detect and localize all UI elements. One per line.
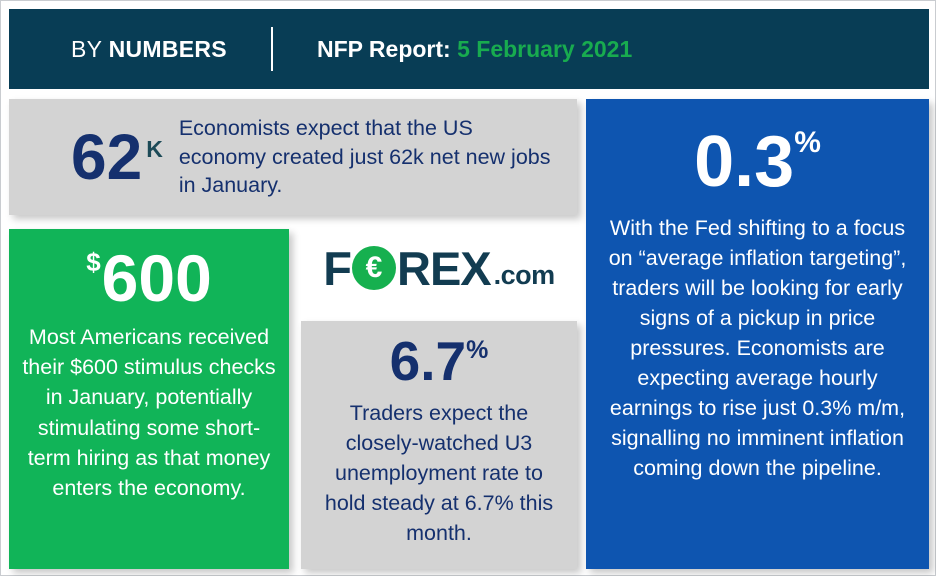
stat-number-unemployment: 6.7 — [390, 330, 466, 392]
stat-number-stimulus: 600 — [102, 241, 212, 315]
stat-card-stimulus: $600 Most Americans received their $600 … — [9, 229, 289, 569]
euro-symbol: € — [352, 253, 396, 283]
euro-circle-icon: € — [352, 246, 396, 290]
header-brand-numbers: NUMBERS — [109, 36, 227, 62]
header-bar: BY NUMBERS NFP Report: 5 February 2021 — [9, 9, 929, 89]
stat-unit-jobs: K — [146, 136, 163, 162]
logo-letter-f: F — [323, 245, 351, 292]
stat-card-earnings: 0.3% With the Fed shifting to a focus on… — [586, 99, 929, 569]
stat-number-jobs: 62 — [71, 121, 142, 193]
stat-body-unemployment: Traders expect the closely-watched U3 un… — [315, 398, 563, 548]
header-report: NFP Report: 5 February 2021 — [317, 36, 632, 63]
header-divider — [271, 27, 273, 71]
header-report-date: 5 February 2021 — [457, 36, 632, 62]
stat-value-earnings: 0.3% — [602, 125, 913, 201]
logo-wordmark: F € REX .com — [323, 245, 554, 292]
header-brand: BY NUMBERS — [71, 36, 227, 63]
logo-dotcom: .com — [494, 262, 555, 292]
header-report-label: NFP Report: — [317, 36, 457, 62]
forex-com-logo: F € REX .com — [301, 239, 577, 297]
stat-value-stimulus: $600 — [21, 243, 277, 314]
stat-number-earnings: 0.3 — [694, 122, 794, 202]
stat-card-jobs: 62K Economists expect that the US econom… — [9, 99, 577, 215]
stat-currency-stimulus: $ — [86, 247, 100, 277]
stat-body-earnings: With the Fed shifting to a focus on “ave… — [602, 213, 913, 484]
stat-body-stimulus: Most Americans received their $600 stimu… — [21, 322, 277, 503]
logo-letters-rex: REX — [397, 245, 491, 292]
stat-card-unemployment: 6.7% Traders expect the closely-watched … — [301, 321, 577, 569]
stat-unit-unemployment: % — [466, 336, 488, 364]
stat-value-unemployment: 6.7% — [315, 331, 563, 392]
stat-value-jobs: 62K — [29, 125, 179, 189]
header-brand-by: BY — [71, 36, 109, 62]
stat-unit-earnings: % — [794, 126, 821, 159]
stat-body-jobs: Economists expect that the US economy cr… — [179, 114, 559, 200]
infographic-root: BY NUMBERS NFP Report: 5 February 2021 6… — [0, 0, 936, 576]
